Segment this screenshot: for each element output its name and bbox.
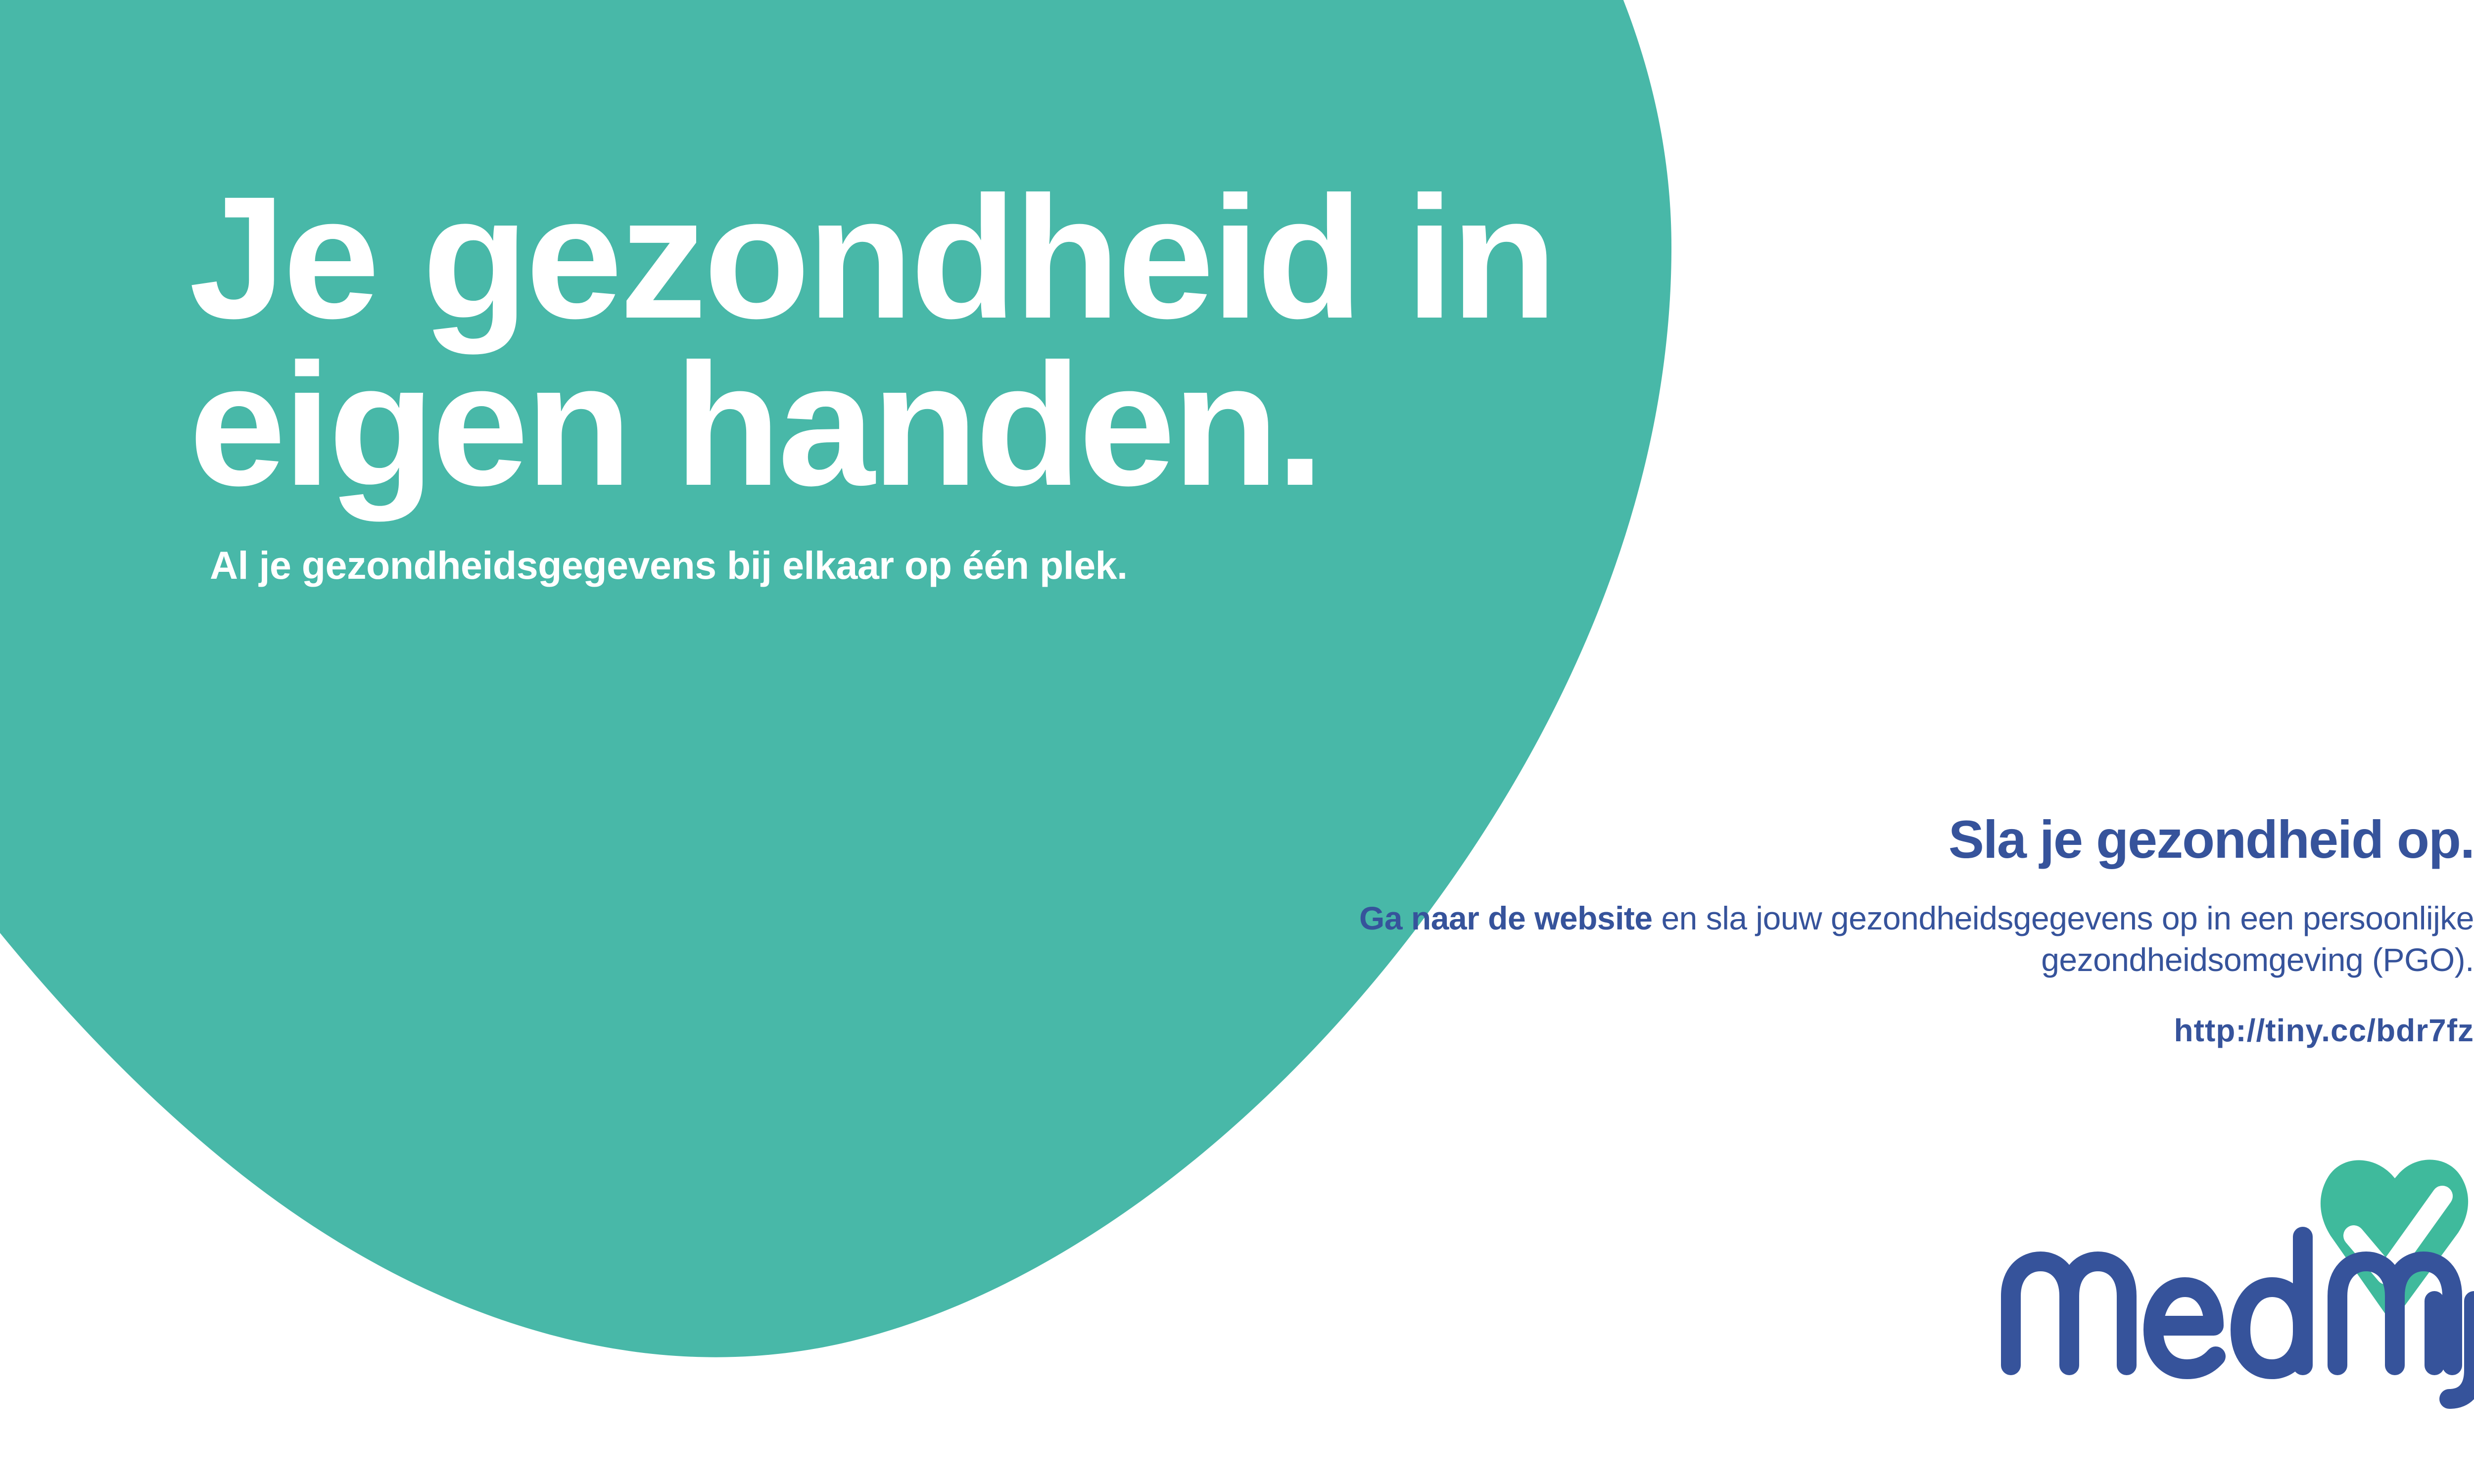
cta-body: Ga naar de website en sla jouw gezondhei…: [1286, 867, 2474, 980]
medmij-wordmark: [2011, 1237, 2474, 1399]
poster-canvas: Je gezondheid in eigen handen. Al je gez…: [0, 0, 2474, 1484]
medmij-logo[interactable]: medmij: [1996, 1153, 2474, 1410]
cta-url-link[interactable]: http://tiny.cc/bdr7fz: [1286, 980, 2474, 1048]
cta-heading: Sla je gezondheid op.: [1286, 811, 2474, 867]
cta-body-lead: Ga naar de website: [1359, 900, 1653, 936]
hero-text-block: Je gezondheid in eigen handen. Al je gez…: [189, 174, 1624, 587]
cta-block: Sla je gezondheid op. Ga naar de website…: [1286, 811, 2474, 1048]
cta-body-rest: en sla jouw gezondheidsgegevens op in ee…: [1653, 900, 2474, 977]
page-title: Je gezondheid in eigen handen.: [189, 174, 1624, 509]
